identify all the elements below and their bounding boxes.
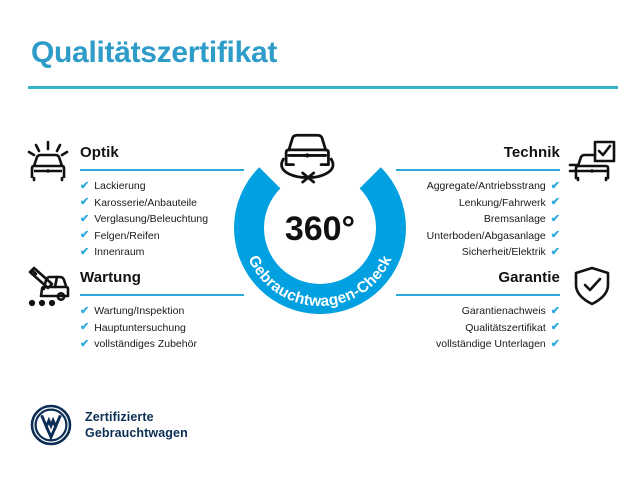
right-column: Technik ✔ Aggregate/Antriebsstrang ✔ Len…: [396, 0, 618, 480]
list-item: ✔ Lenkung/Fahrwerk: [396, 195, 618, 212]
section-wartung-list: ✔ Wartung/Inspektion ✔ Hauptuntersuchung…: [22, 303, 244, 353]
list-item-label: vollständiges Zubehör: [94, 336, 197, 353]
footer-brand: Zertifizierte Gebrauchtwagen: [30, 404, 188, 446]
wrench-car-icon: [24, 265, 72, 307]
section-garantie-title: Garantie: [396, 267, 560, 289]
check-icon: ✔: [551, 339, 560, 350]
footer-line-2: Gebrauchtwagen: [85, 426, 188, 440]
section-wartung-header: Wartung: [80, 267, 244, 297]
section-technik-divider: [396, 169, 560, 171]
list-item-label: vollständige Unterlagen: [436, 336, 546, 353]
list-item-label: Lackierung: [94, 178, 145, 195]
check-icon: ✔: [551, 214, 560, 225]
list-item-label: Qualitätszertifikat: [465, 320, 546, 337]
section-technik-header: Technik: [396, 142, 560, 172]
check-icon: ✔: [80, 322, 89, 333]
badge-360-gebrauchtwagen-check: Gebrauchtwagen-Check 360°: [226, 122, 414, 314]
section-optik-title: Optik: [80, 142, 244, 164]
list-item-label: Sicherheit/Elektrik: [462, 244, 546, 261]
check-icon: ✔: [551, 322, 560, 333]
footer-brand-text: Zertifizierte Gebrauchtwagen: [85, 409, 188, 441]
section-technik-list: ✔ Aggregate/Antriebsstrang ✔ Lenkung/Fah…: [396, 178, 618, 261]
quality-certificate-page: Qualitätszertifikat: [0, 0, 640, 480]
shield-check-icon: [568, 265, 616, 307]
list-item: ✔ Innenraum: [22, 244, 244, 261]
check-icon: ✔: [551, 247, 560, 258]
check-icon: ✔: [551, 306, 560, 317]
car-front-shine-icon: [24, 140, 72, 182]
section-wartung-divider: [80, 294, 244, 296]
section-optik-list: ✔ Lackierung ✔ Karosserie/Anbauteile ✔ V…: [22, 178, 244, 261]
list-item-label: Hauptuntersuchung: [94, 320, 186, 337]
check-icon: ✔: [80, 181, 89, 192]
list-item-label: Verglasung/Beleuchtung: [94, 211, 208, 228]
list-item: ✔ Bremsanlage: [396, 211, 618, 228]
section-wartung: Wartung ✔ Wartung/Inspektion ✔ Hauptunte…: [22, 267, 244, 353]
list-item: ✔ Verglasung/Beleuchtung: [22, 211, 244, 228]
car-rotate-360-icon: [282, 135, 334, 182]
list-item-label: Garantienachweis: [462, 303, 546, 320]
check-icon: ✔: [80, 214, 89, 225]
check-icon: ✔: [80, 306, 89, 317]
list-item: ✔ vollständiges Zubehör: [22, 336, 244, 353]
section-technik: Technik ✔ Aggregate/Antriebsstrang ✔ Len…: [396, 142, 618, 261]
list-item-label: Unterboden/Abgasanlage: [427, 228, 546, 245]
list-item: ✔ Karosserie/Anbauteile: [22, 195, 244, 212]
section-optik-divider: [80, 169, 244, 171]
list-item-label: Innenraum: [94, 244, 144, 261]
badge-center-label: 360°: [285, 210, 355, 248]
list-item-label: Felgen/Reifen: [94, 228, 159, 245]
check-icon: ✔: [551, 230, 560, 241]
list-item-label: Bremsanlage: [484, 211, 546, 228]
check-icon: ✔: [80, 197, 89, 208]
section-wartung-title: Wartung: [80, 267, 244, 289]
list-item: ✔ Qualitätszertifikat: [396, 320, 618, 337]
section-optik: Optik ✔ Lackierung ✔ Karosserie/Anbautei…: [22, 142, 244, 261]
check-icon: ✔: [80, 230, 89, 241]
list-item: ✔ Unterboden/Abgasanlage: [396, 228, 618, 245]
section-garantie: Garantie ✔ Garantienachweis ✔ Qualitätsz…: [396, 267, 618, 353]
section-garantie-list: ✔ Garantienachweis ✔ Qualitätszertifikat…: [396, 303, 618, 353]
check-icon: ✔: [551, 181, 560, 192]
list-item-label: Wartung/Inspektion: [94, 303, 184, 320]
check-icon: ✔: [80, 247, 89, 258]
list-item-label: Karosserie/Anbauteile: [94, 195, 197, 212]
car-front-checkbox-icon: [568, 140, 616, 182]
footer-line-1: Zertifizierte: [85, 410, 154, 424]
list-item: ✔ Felgen/Reifen: [22, 228, 244, 245]
section-optik-header: Optik: [80, 142, 244, 172]
list-item-label: Lenkung/Fahrwerk: [459, 195, 546, 212]
list-item: ✔ Sicherheit/Elektrik: [396, 244, 618, 261]
section-technik-title: Technik: [396, 142, 560, 164]
volkswagen-logo: [30, 404, 72, 446]
section-garantie-header: Garantie: [396, 267, 560, 297]
section-garantie-divider: [396, 294, 560, 296]
list-item: ✔ vollständige Unterlagen: [396, 336, 618, 353]
check-icon: ✔: [551, 197, 560, 208]
list-item: ✔ Hauptuntersuchung: [22, 320, 244, 337]
check-icon: ✔: [80, 339, 89, 350]
list-item-label: Aggregate/Antriebsstrang: [427, 178, 546, 195]
